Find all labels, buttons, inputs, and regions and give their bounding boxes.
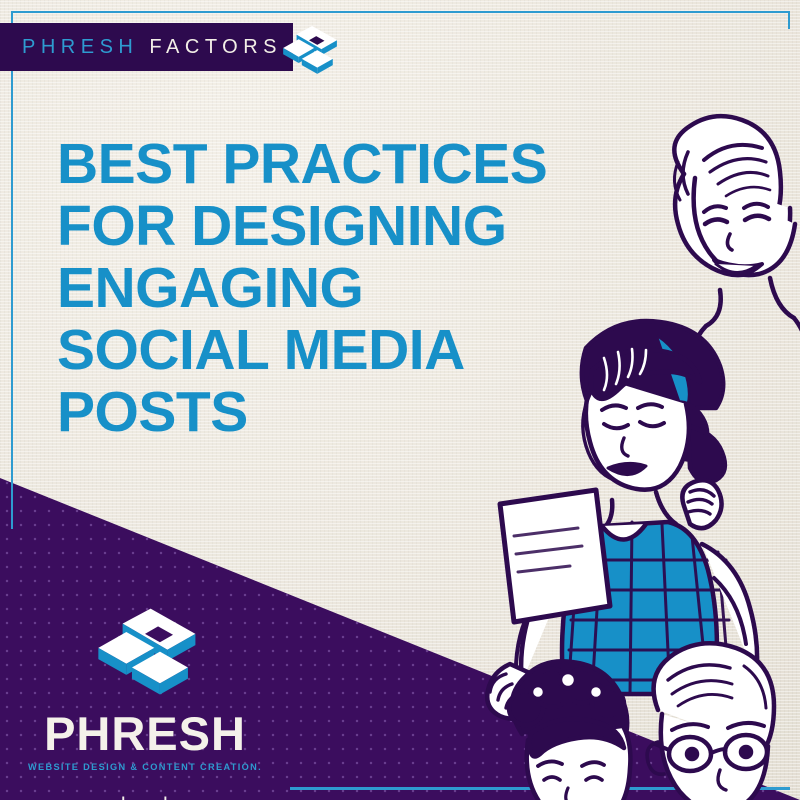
retro-people-illustration <box>452 108 800 800</box>
frame-line-top <box>11 11 790 13</box>
header-title-factors: FACTORS <box>149 36 282 58</box>
header-title-phresh: PHRESH <box>22 36 138 58</box>
phresh-logo-icon <box>278 16 340 78</box>
phresh-logo-icon <box>89 590 201 702</box>
brand-tagline: WEBSITE DESIGN & CONTENT CREATION. <box>0 762 290 772</box>
social-post-canvas: PHRESH FACTORS BEST PRACTICES FOR DESIGN… <box>0 0 800 800</box>
header-bar: PHRESH FACTORS <box>0 23 293 71</box>
brand-block: PHRESH WEBSITE DESIGN & CONTENT CREATION… <box>0 590 290 800</box>
frame-line-right <box>788 11 790 29</box>
header-title: PHRESH FACTORS <box>22 36 282 59</box>
brand-url[interactable]: sophresh.co <box>0 794 290 800</box>
brand-name: PHRESH <box>0 710 290 757</box>
frame-line-left <box>11 11 13 529</box>
